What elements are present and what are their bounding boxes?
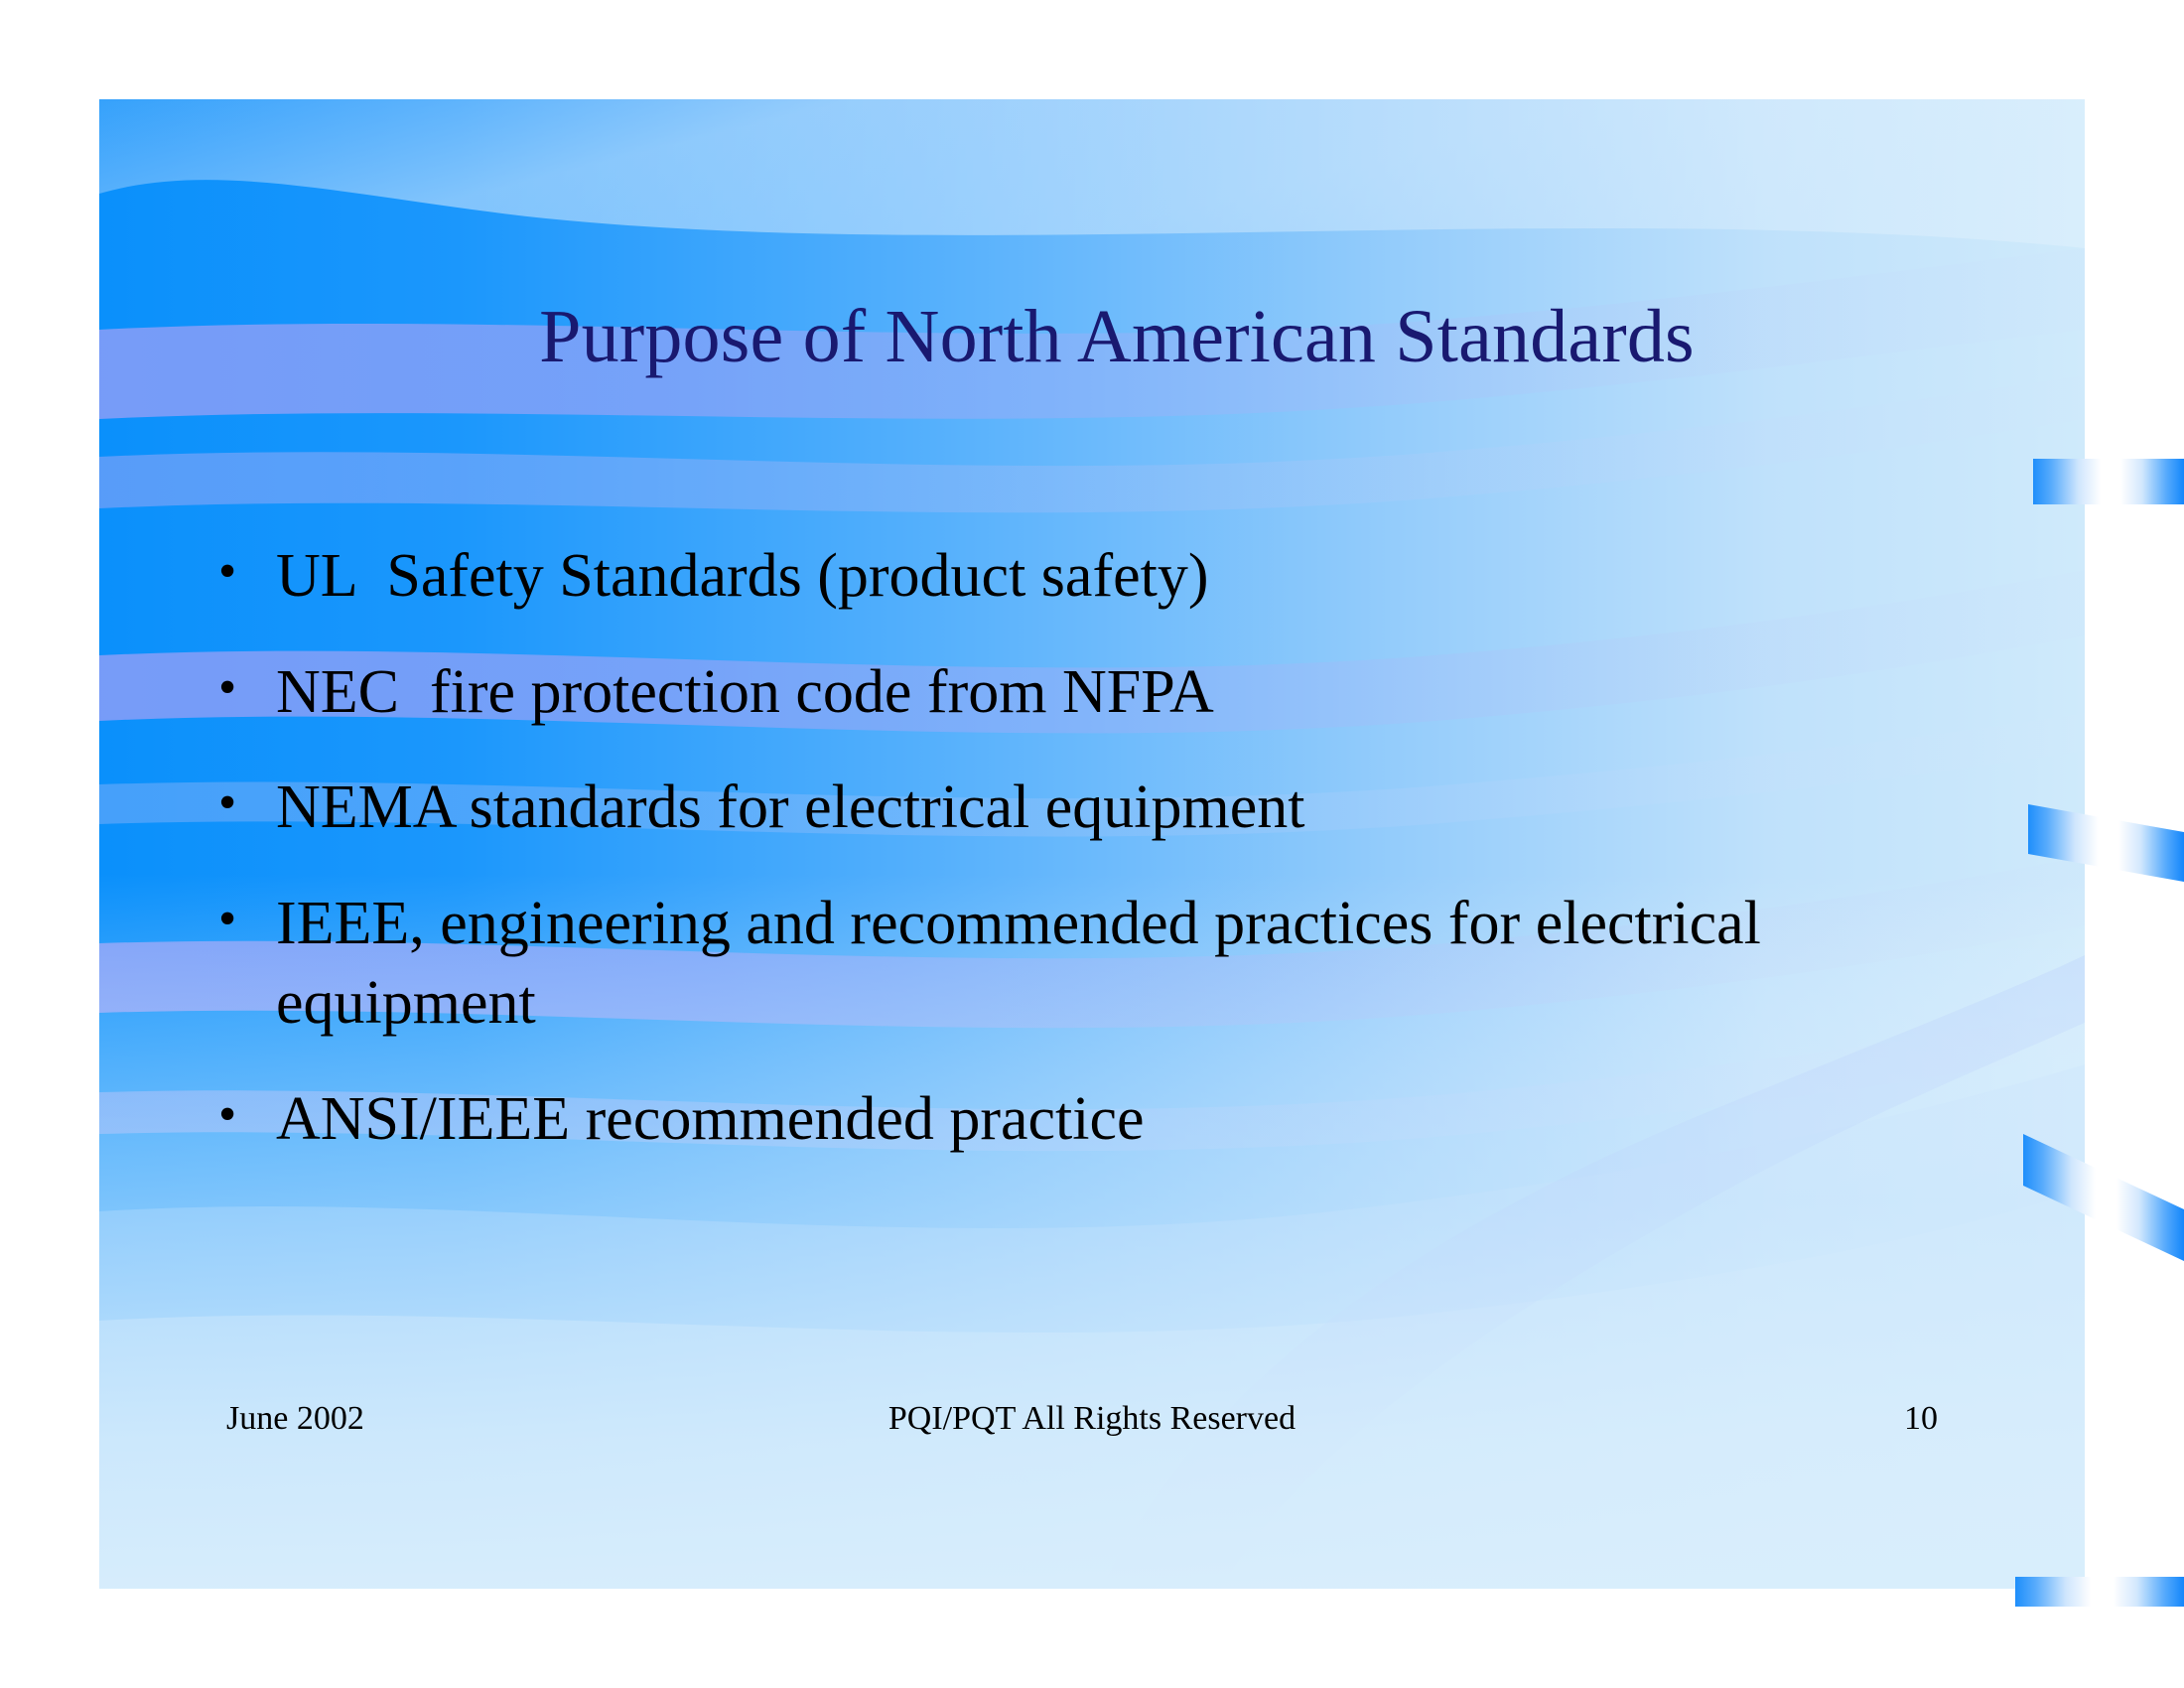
list-item-label: NEC fire protection code from NFPA — [276, 652, 2025, 733]
page-title: Purpose of North American Standards — [228, 298, 2005, 377]
list-item: • UL Safety Standards (product safety) — [218, 536, 2025, 617]
bullet-icon: • — [218, 536, 276, 609]
list-item: • NEMA standards for electrical equipmen… — [218, 768, 2025, 848]
list-item: • NEC fire protection code from NFPA — [218, 652, 2025, 733]
bullet-icon: • — [218, 652, 276, 725]
list-item-label: NEMA standards for electrical equipment — [276, 768, 2025, 848]
list-item-label: ANSI/IEEE recommended practice — [276, 1079, 2025, 1160]
list-item: • IEEE, engineering and recommended prac… — [218, 884, 2025, 1044]
list-item: • ANSI/IEEE recommended practice — [218, 1079, 2025, 1160]
slide-canvas: Purpose of North American Standards • UL… — [0, 0, 2184, 1688]
footer-copyright: PQI/PQT All Rights Reserved — [99, 1400, 2085, 1438]
list-item-label: UL Safety Standards (product safety) — [276, 536, 2025, 617]
bullet-icon: • — [218, 768, 276, 840]
list-item-label: IEEE, engineering and recommended practi… — [276, 884, 2025, 1044]
slide-content: Purpose of North American Standards • UL… — [99, 99, 2085, 1589]
footer-page-number: 10 — [1904, 1400, 1938, 1438]
bullet-icon: • — [218, 884, 276, 956]
bullet-icon: • — [218, 1079, 276, 1152]
slide-footer: June 2002 PQI/PQT All Rights Reserved 10 — [99, 1400, 2085, 1450]
presentation-slide: Purpose of North American Standards • UL… — [99, 99, 2085, 1589]
bullet-list: • UL Safety Standards (product safety) •… — [218, 536, 2025, 1196]
